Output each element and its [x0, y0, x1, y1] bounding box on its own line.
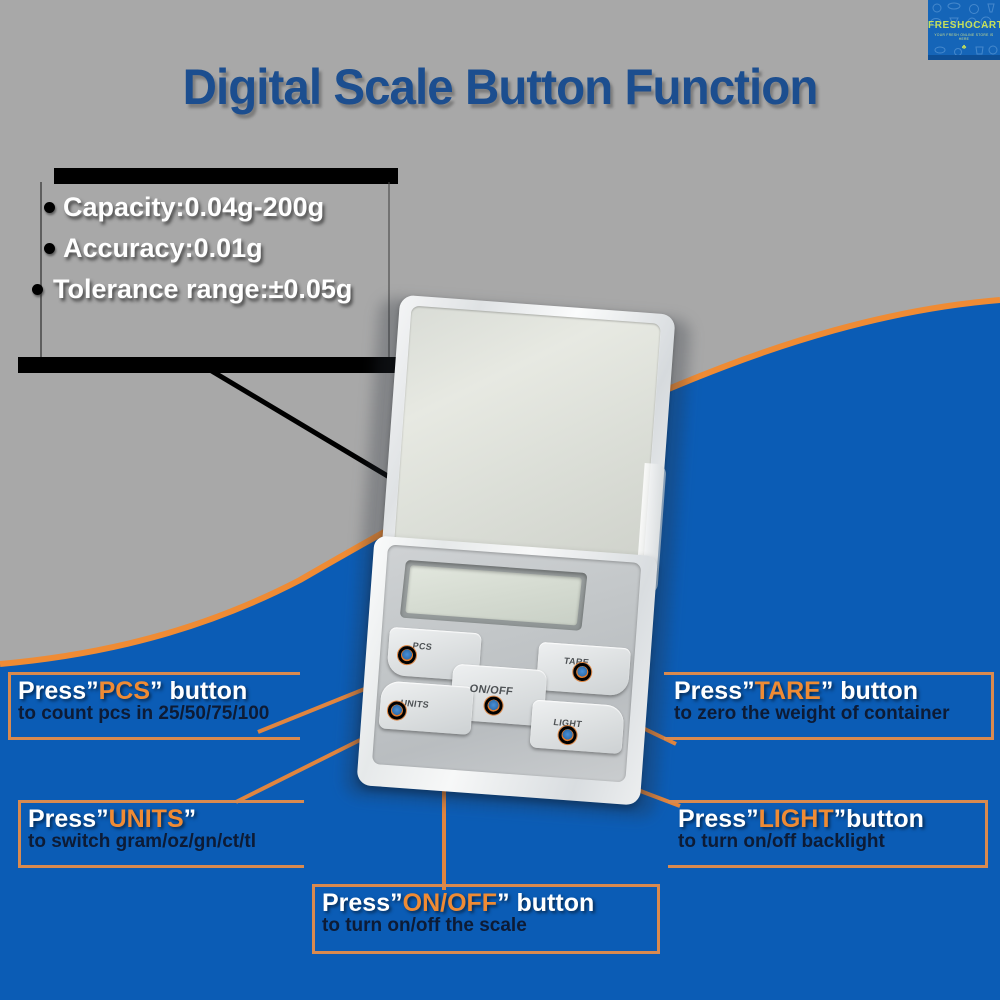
callout-body: Press”ON/OFF” button to turn on/off the …	[312, 884, 660, 954]
callout-body: Press”UNITS” to switch gram/oz/gn/ct/tl	[18, 800, 304, 868]
callout-key: PCS	[99, 677, 150, 705]
weighing-platform	[394, 306, 661, 568]
callout-title: Press”UNITS”	[28, 806, 296, 832]
infographic-canvas: FRESHOCART YOUR FRESH ONLINE STORE IS HE…	[0, 0, 1000, 1000]
callout-suffix: ” button	[497, 889, 594, 917]
specifications-box: Capacity:0.04g-200g Accuracy:0.01g Toler…	[18, 168, 398, 373]
bullet-icon	[44, 243, 55, 254]
callout-description: to switch gram/oz/gn/ct/tl	[28, 832, 296, 853]
callout-prefix: Press”	[674, 677, 755, 705]
spec-item: Accuracy:0.01g	[44, 235, 392, 262]
keypad: PCS TARE ON/OFF UNITS LIGHT	[381, 625, 626, 774]
control-panel: PCS TARE ON/OFF UNITS LIGHT	[372, 544, 641, 782]
bullet-icon	[32, 284, 43, 295]
scale-body: PCS TARE ON/OFF UNITS LIGHT	[356, 535, 658, 805]
digital-pocket-scale: PCS TARE ON/OFF UNITS LIGHT	[350, 290, 686, 811]
spec-item: Capacity:0.04g-200g	[44, 194, 392, 221]
callout-suffix: ” button	[150, 677, 247, 705]
page-title: Digital Scale Button Function	[25, 58, 975, 116]
callout-onoff: Press”ON/OFF” button to turn on/off the …	[312, 884, 660, 954]
callout-key: ON/OFF	[403, 889, 497, 917]
brand-badge: FRESHOCART YOUR FRESH ONLINE STORE IS HE…	[928, 0, 1000, 60]
brand-tagline: YOUR FRESH ONLINE STORE IS HERE	[929, 33, 998, 41]
callout-units: Press”UNITS” to switch gram/oz/gn/ct/tl	[18, 800, 304, 868]
callout-suffix: ”	[184, 805, 197, 833]
callout-key: UNITS	[109, 805, 184, 833]
callout-title: Press”PCS” button	[18, 678, 292, 704]
callout-key: TARE	[755, 677, 821, 705]
callout-key: LIGHT	[759, 805, 834, 833]
callout-prefix: Press”	[28, 805, 109, 833]
callout-body: Press”LIGHT”button to turn on/off backli…	[668, 800, 988, 868]
callout-title: Press”TARE” button	[674, 678, 986, 704]
callout-suffix: ”button	[834, 805, 924, 833]
callout-description: to turn on/off the scale	[322, 916, 652, 937]
callout-light: Press”LIGHT”button to turn on/off backli…	[668, 800, 988, 868]
bullet-icon	[44, 202, 55, 213]
callout-suffix: ” button	[821, 677, 918, 705]
callout-prefix: Press”	[18, 677, 99, 705]
brand-mark-icon: ♣	[928, 44, 1000, 51]
spec-bar-top	[54, 168, 398, 184]
brand-name: FRESHOCART	[928, 20, 1000, 31]
lcd-screen	[405, 565, 582, 625]
spec-bar-bottom	[18, 357, 398, 373]
spec-item: Tolerance range:±0.05g	[32, 276, 392, 303]
callout-body: Press”PCS” button to count pcs in 25/50/…	[8, 672, 300, 740]
callout-title: Press”LIGHT”button	[678, 806, 980, 832]
callout-tare: Press”TARE” button to zero the weight of…	[664, 672, 994, 740]
spec-item-text: Capacity:0.04g-200g	[63, 194, 324, 221]
callout-prefix: Press”	[678, 805, 759, 833]
callout-title: Press”ON/OFF” button	[322, 890, 652, 916]
callout-description: to zero the weight of container	[674, 704, 986, 725]
callout-pcs: Press”PCS” button to count pcs in 25/50/…	[8, 672, 300, 740]
callout-body: Press”TARE” button to zero the weight of…	[664, 672, 994, 740]
spec-list: Capacity:0.04g-200g Accuracy:0.01g Toler…	[40, 188, 392, 355]
callout-description: to turn on/off backlight	[678, 832, 980, 853]
spec-item-text: Tolerance range:±0.05g	[53, 276, 352, 303]
spec-item-text: Accuracy:0.01g	[63, 235, 263, 262]
lcd-display	[400, 560, 588, 631]
callout-prefix: Press”	[322, 889, 403, 917]
callout-description: to count pcs in 25/50/75/100	[18, 704, 292, 725]
